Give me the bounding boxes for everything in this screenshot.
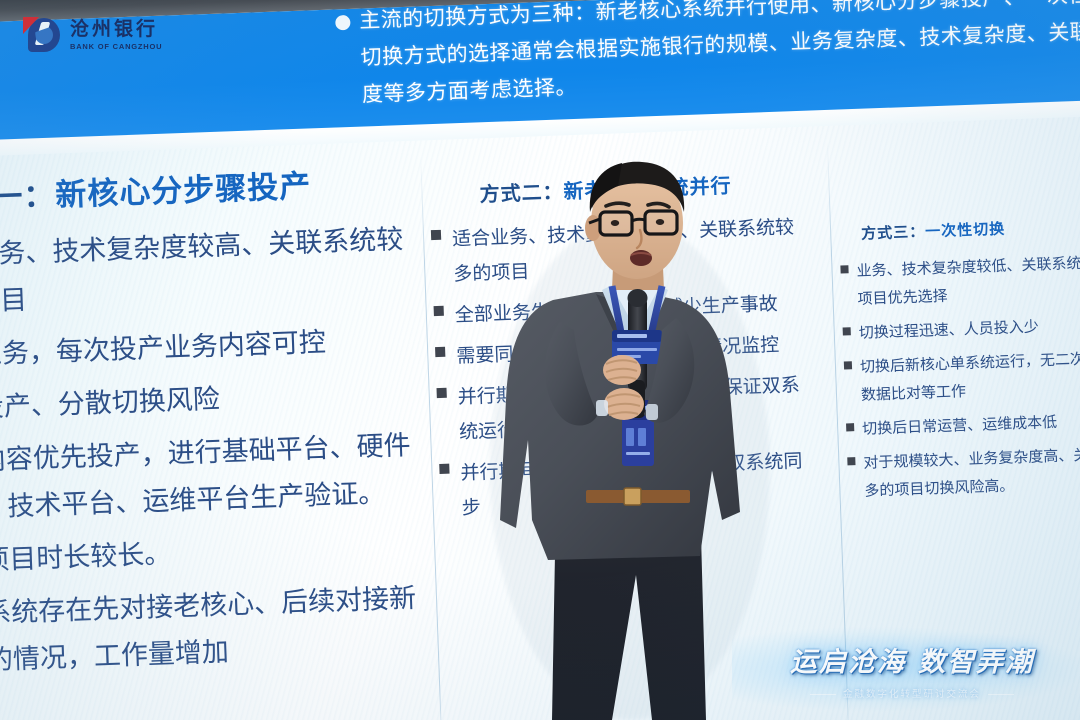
column-two-label: 方式二： [479,181,564,206]
square-bullet-icon [846,423,854,431]
column-three-label: 方式三： [861,223,926,242]
bank-logo-mark-icon [22,15,62,55]
watermark-subtitle: 金融数字化转型研讨交流会 [762,686,1062,700]
square-bullet-icon [435,346,445,356]
square-bullet-icon [843,327,851,335]
bullet-text: 部分内容优先投产，进行基础平台、硬件环境、技术平台、运维平台生产验证。 [0,422,413,533]
bullet-item: 全部业务生产环境验证，减少生产事故 [433,286,812,334]
bullet-text: 对于规模较大、业务复杂度高、关联系统多的项目切换风险高。 [863,440,1080,506]
column-three-title: 一次性切换 [925,221,1006,241]
bullet-text: 需要同时对新老系统进行运行情况监控 [456,328,780,375]
bullet-text: 业务、技术复杂度较低、关联系统较少的项目优先选择 [856,248,1080,314]
bullet-item: 并行期间运维等团队投入巨大，保证双系统运行平稳 [436,368,816,451]
watermark-title: 运启沧海数智弄潮 [762,640,1062,679]
square-bullet-icon [439,463,449,473]
column-two-title: 新老核心系统并行 [563,175,732,203]
square-bullet-icon [431,230,441,240]
bullet-text: 切换后新核心单系统运行，无二次投入、数据比对等工作 [860,344,1080,410]
bullet-text: 整体项目时长较长。 [0,531,172,587]
bullet-item: 适合业务、技术复杂度较高、关联系统较多的项目 [431,210,811,293]
slide-column-two: 方式二：新老核心系统并行 适合业务、技术复杂度较高、关联系统较多的项目 全部业务… [429,167,819,533]
square-bullet-icon [434,305,444,315]
bullet-item: 对于规模较大、业务复杂度高、关联系统多的项目切换风险高。 [847,440,1080,507]
bullet-item: 部分内容优先投产，进行基础平台、硬件环境、技术平台、运维平台生产验证。 [0,422,413,534]
bullet-text: 拆分业务，每次投产业务内容可控 [0,319,327,380]
bullet-text: 切换后日常运营、运维成本低 [862,409,1058,444]
bullet-item: 适合业务、技术复杂度较高、关联系统较多的项目 [0,216,406,328]
bullet-dot-icon [335,15,351,31]
column-two-bullets: 适合业务、技术复杂度较高、关联系统较多的项目 全部业务生产环境验证，减少生产事故… [431,210,820,527]
bullet-text: 多次投产、分散切换风险 [0,376,221,434]
bullet-item: 切换后新核心单系统运行，无二次投入、数据比对等工作 [844,344,1080,411]
square-bullet-icon [847,457,855,465]
column-one-label: 方式一： [0,178,56,218]
event-watermark: 运启沧海数智弄潮 金融数字化转型研讨交流会 [762,640,1062,700]
bullet-item: 切换后日常运营、运维成本低 [846,406,1080,445]
column-one-bullets: 适合业务、技术复杂度较高、关联系统较多的项目 拆分业务，每次投产业务内容可控 多… [0,216,419,687]
screenshot-root: 信创环境的切换方式 主流的切换方式为三种：新老核心系统并行使用、新核心分步骤投产… [0,0,1080,720]
led-screen: 信创环境的切换方式 主流的切换方式为三种：新老核心系统并行使用、新核心分步骤投产… [0,0,1080,720]
presentation-slide: 信创环境的切换方式 主流的切换方式为三种：新老核心系统并行使用、新核心分步骤投产… [0,0,1080,720]
bullet-item: 业务、技术复杂度较低、关联系统较少的项目优先选择 [840,248,1080,315]
watermark-title-left: 运启沧海 [790,647,906,677]
square-bullet-icon [840,265,848,273]
bullet-text: 适合业务、技术复杂度较高、关联系统较多的项目 [0,216,406,327]
bank-name-en: BANK OF CANGZHOU [70,43,162,51]
bullet-text: 适合业务、技术复杂度较高、关联系统较多的项目 [452,210,811,293]
bullet-text: 切换过程迅速、人员投入少 [858,313,1039,347]
column-three-heading: 方式三：一次性切换 [839,213,1080,245]
column-one-heading: 方式一：新核心分步骤投产 [0,157,402,220]
column-one-title: 新核心分步骤投产 [55,168,312,212]
bullet-item: 部分系统存在先对接老核心、后续对接新核心的情况，工作量增加 [0,575,419,687]
square-bullet-icon [844,361,852,369]
slide-column-three: 方式三：一次性切换 业务、技术复杂度较低、关联系统较少的项目优先选择 切换过程迅… [839,213,1080,513]
bullet-text: 部分系统存在先对接老核心、后续对接新核心的情况，工作量增加 [0,575,419,686]
bullet-text: 全部业务生产环境验证，减少生产事故 [454,287,778,334]
bank-name-cn: 沧州银行 [70,20,162,39]
bullet-text: 并行期间数据、监管要求等需要双系统同步 [460,444,819,527]
column-three-bullets: 业务、技术复杂度较低、关联系统较少的项目优先选择 切换过程迅速、人员投入少 切换… [840,248,1080,507]
bullet-item: 需要同时对新老系统进行运行情况监控 [435,327,814,375]
watermark-title-right: 数智弄潮 [918,647,1034,677]
slide-header-text: 主流的切换方式为三种：新老核心系统并行使用、新核心分步骤投产、一次性切换、 切换… [359,0,1080,114]
square-bullet-icon [436,387,446,397]
bullet-item: 切换过程迅速、人员投入少 [842,310,1080,349]
bullet-text: 并行期间运维等团队投入巨大，保证双系统运行平稳 [457,368,816,451]
bank-logo: 沧州银行 BANK OF CANGZHOU [22,12,172,58]
column-two-heading: 方式二：新老核心系统并行 [429,167,808,210]
bullet-item: 并行期间数据、监管要求等需要双系统同步 [439,444,819,527]
slide-column-one: 方式一：新核心分步骤投产 适合业务、技术复杂度较高、关联系统较多的项目 拆分业务… [0,157,419,693]
bank-logo-text: 沧州银行 BANK OF CANGZHOU [70,20,162,51]
